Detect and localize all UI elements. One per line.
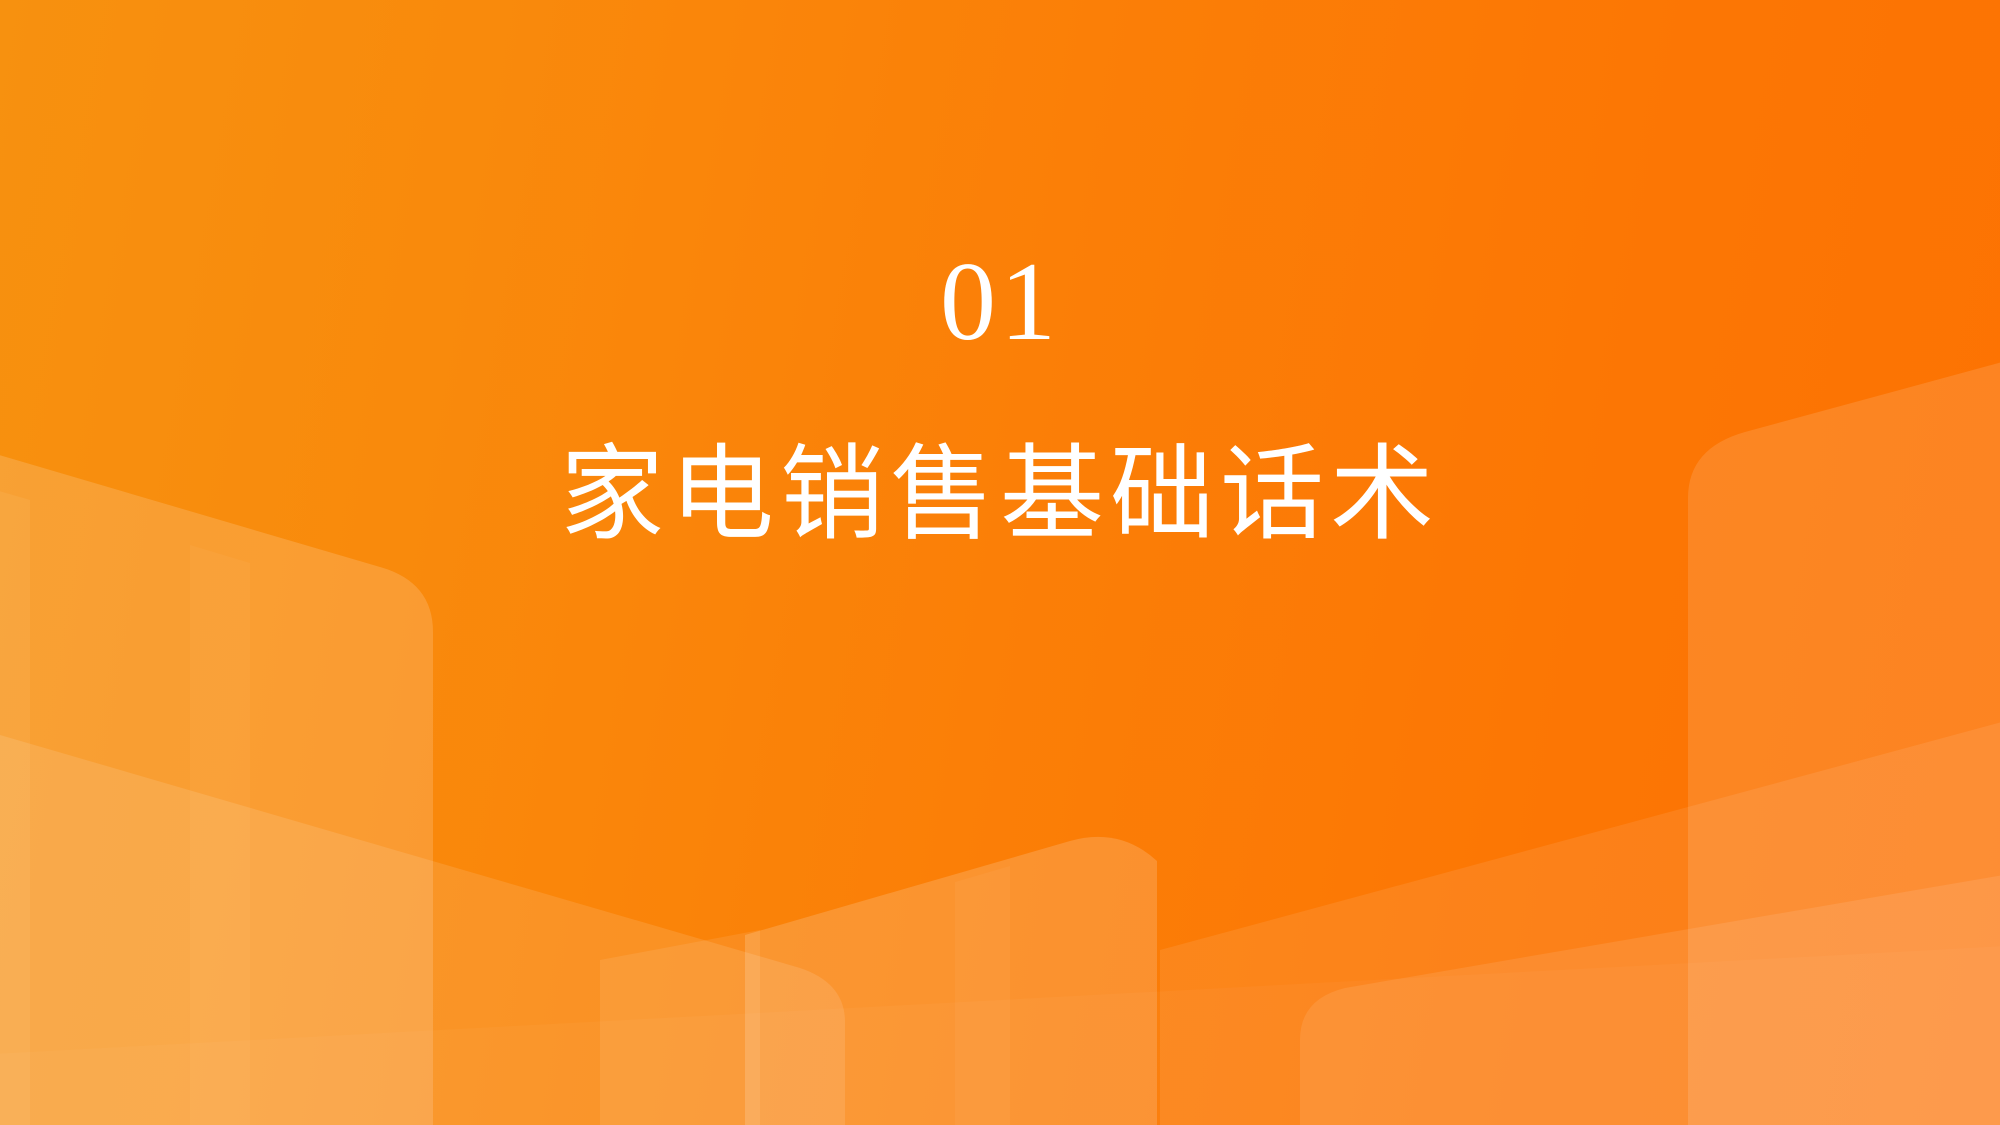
slide-canvas: 01 家电销售基础话术 — [0, 0, 2000, 1125]
slide-content: 01 家电销售基础话术 — [0, 0, 2000, 1125]
page-title: 家电销售基础话术 — [560, 436, 1440, 552]
section-number: 01 — [940, 246, 1060, 358]
